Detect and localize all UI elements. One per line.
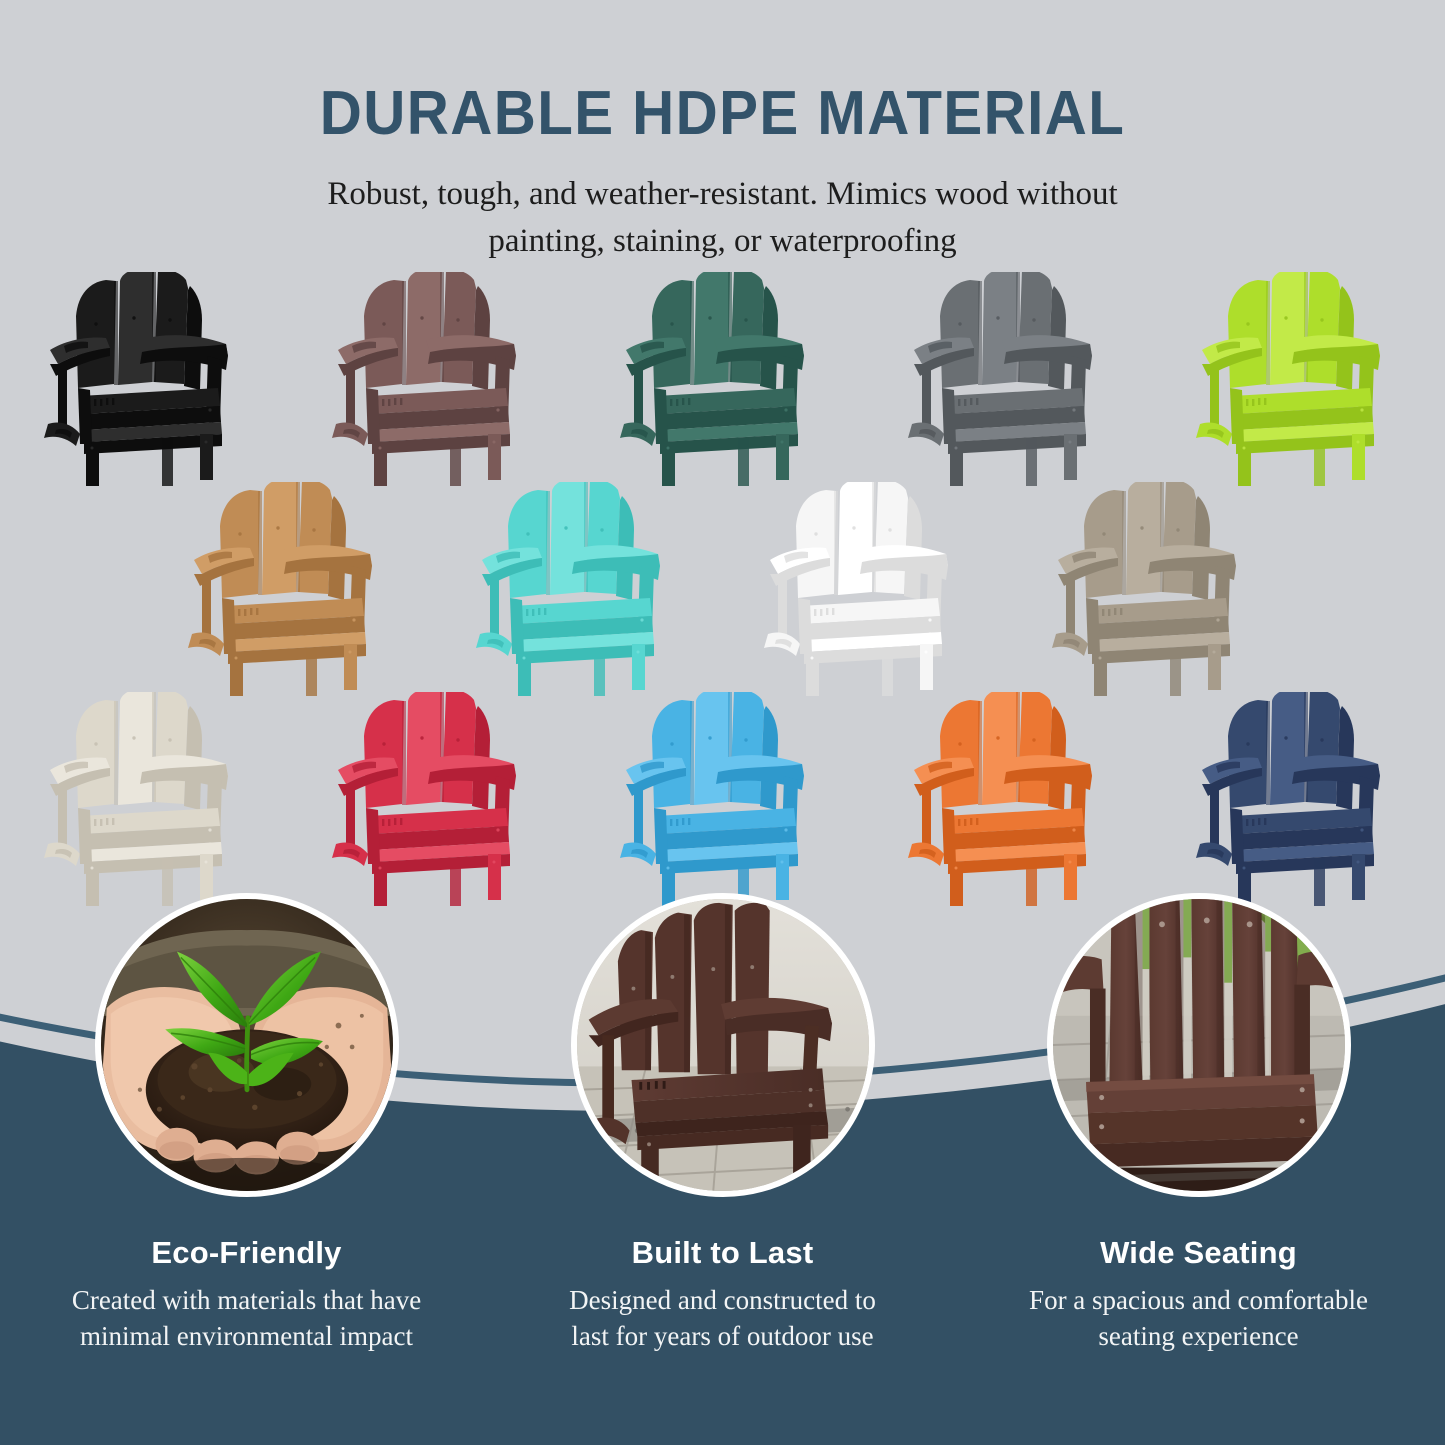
chair-swatch-orange[interactable] [906,692,1116,908]
chair-swatch-navy-blue[interactable] [1194,692,1404,908]
chair-swatch-dark-gray[interactable] [906,272,1116,488]
chair-svg-hunter-green [618,272,828,488]
header-block: DURABLE HDPE MATERIAL Robust, tough, and… [0,0,1445,265]
subtitle-line-1: Robust, tough, and weather-resistant. Mi… [0,171,1445,218]
chair-row-2 [0,482,1445,698]
built-to-last-title: Built to Last [506,1235,939,1271]
chair-swatch-white[interactable] [762,482,972,698]
chair-svg-ivory [42,692,252,908]
eco-friendly-description: Created with materials that have minimal… [30,1283,463,1355]
chair-swatch-lime-green[interactable] [1194,272,1404,488]
features-section: Eco-Friendly Created with materials that… [0,893,1445,1445]
chair-svg-lime-green [1194,272,1404,488]
feature-wide-seating: Wide Seating For a spacious and comforta… [982,893,1415,1355]
chair-swatch-hunter-green[interactable] [618,272,828,488]
chair-svg-white [762,482,972,698]
chair-color-grid [0,272,1445,908]
wide-seating-title: Wide Seating [982,1235,1415,1271]
chair-swatch-weathered-wood[interactable] [1050,482,1260,698]
eco-desc-line-2: minimal environmental impact [30,1319,463,1355]
built-to-last-image [571,893,875,1197]
chair-swatch-red[interactable] [330,692,540,908]
chair-row-1 [0,272,1445,488]
chair-swatch-teak[interactable] [186,482,396,698]
feature-eco-friendly: Eco-Friendly Created with materials that… [30,893,463,1355]
chair-svg-red [330,692,540,908]
chair-row-3 [0,692,1445,908]
patio-chair-photo-illustration [577,899,869,1191]
chair-svg-brown [330,272,540,488]
feature-built-to-last: Built to Last Designed and constructed t… [506,893,939,1355]
wide-desc-line-2: seating experience [982,1319,1415,1355]
hands-seedling-illustration [101,899,393,1191]
chair-swatch-ivory[interactable] [42,692,252,908]
chair-swatch-light-blue[interactable] [618,692,828,908]
eco-friendly-image [95,893,399,1197]
chair-swatch-turquoise[interactable] [474,482,684,698]
chair-swatch-brown[interactable] [330,272,540,488]
eco-friendly-title: Eco-Friendly [30,1235,463,1271]
chair-svg-orange [906,692,1116,908]
chair-svg-black [42,272,252,488]
subtitle-line-2: painting, staining, or waterproofing [0,218,1445,265]
page-title: DURABLE HDPE MATERIAL [43,78,1401,149]
built-to-last-description: Designed and constructed to last for yea… [506,1283,939,1355]
wide-seat-closeup-illustration [1053,899,1345,1191]
wide-seating-description: For a spacious and comfortable seating e… [982,1283,1415,1355]
built-desc-line-2: last for years of outdoor use [506,1319,939,1355]
chair-svg-navy-blue [1194,692,1404,908]
chair-svg-weathered-wood [1050,482,1260,698]
page-subtitle: Robust, tough, and weather-resistant. Mi… [0,171,1445,265]
eco-desc-line-1: Created with materials that have [30,1283,463,1319]
wide-desc-line-1: For a spacious and comfortable [982,1283,1415,1319]
wide-seating-image [1047,893,1351,1197]
chair-svg-dark-gray [906,272,1116,488]
chair-swatch-black[interactable] [42,272,252,488]
built-desc-line-1: Designed and constructed to [506,1283,939,1319]
chair-svg-turquoise [474,482,684,698]
chair-svg-teak [186,482,396,698]
chair-svg-light-blue [618,692,828,908]
